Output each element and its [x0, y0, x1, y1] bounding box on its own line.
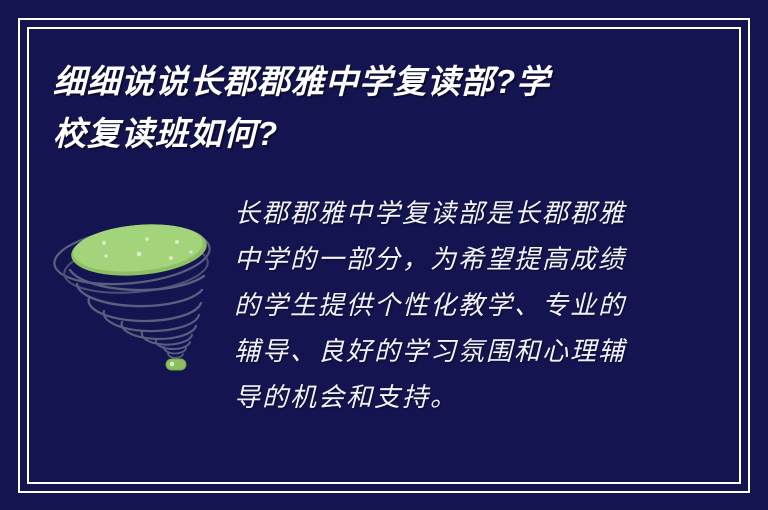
body-line: 辅导、良好的学习氛围和心理辅: [234, 328, 724, 374]
page-title: 细细说说长郡郡雅中学复读部?学 校复读班如何?: [53, 56, 673, 160]
body-line: 的学生提供个性化教学、专业的: [234, 282, 724, 328]
body-paragraph: 长郡郡雅中学复读部是长郡郡雅 中学的一部分，为希望提高成绩 的学生提供个性化教学…: [224, 190, 724, 420]
title-line-1: 细细说说长郡郡雅中学复读部?学: [53, 56, 673, 108]
poster-canvas: 细细说说长郡郡雅中学复读部?学 校复读班如何?: [0, 0, 768, 510]
body-line: 导的机会和支持。: [234, 374, 724, 420]
content-area: 长郡郡雅中学复读部是长郡郡雅 中学的一部分，为希望提高成绩 的学生提供个性化教学…: [44, 190, 724, 460]
body-line: 中学的一部分，为希望提高成绩: [234, 236, 724, 282]
body-line: 长郡郡雅中学复读部是长郡郡雅: [234, 190, 724, 236]
tornado-icon: [44, 198, 224, 378]
title-line-2: 校复读班如何?: [53, 108, 673, 160]
